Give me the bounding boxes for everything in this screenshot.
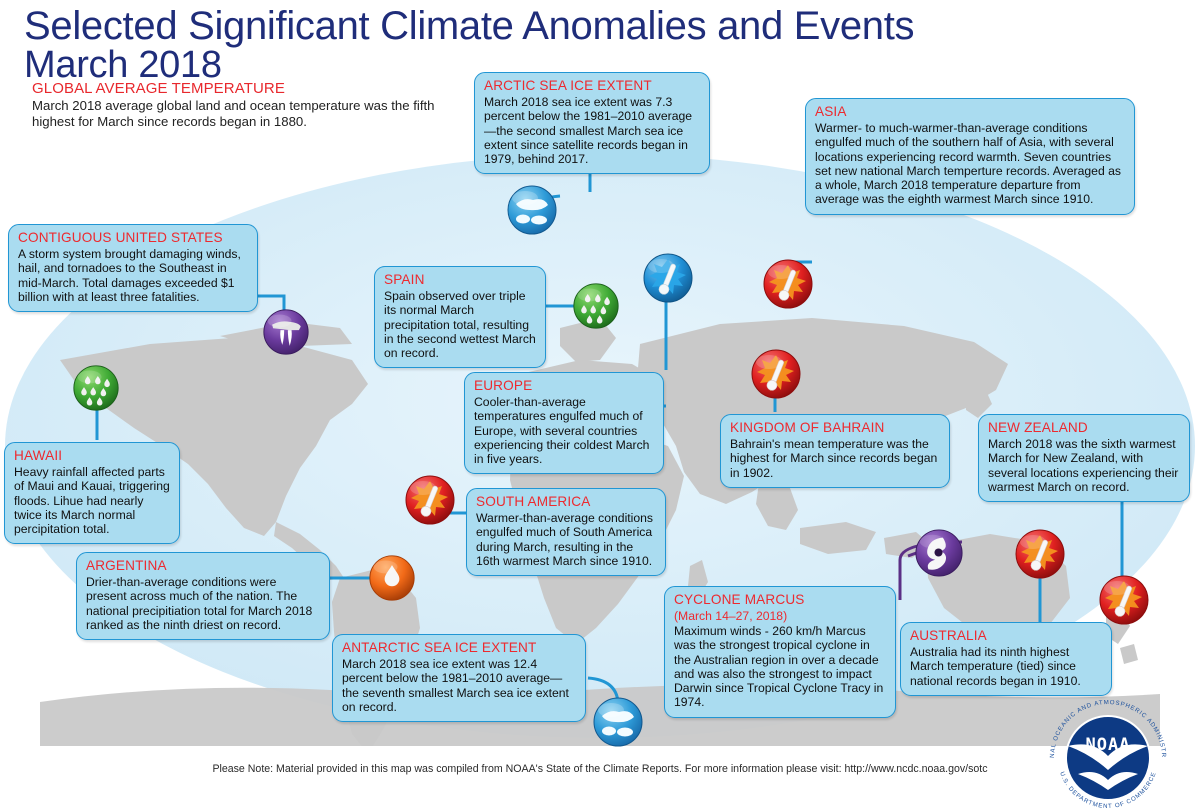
- footer-note: Please Note: Material provided in this m…: [0, 763, 1200, 775]
- callout-body: Bahrain's mean temperature was the highe…: [730, 437, 940, 480]
- callout-title: CYCLONE MARCUS: [674, 592, 886, 608]
- callout-body: March 2018 sea ice extent was 7.3 percen…: [484, 95, 700, 166]
- callout-body: Warmer- to much-warmer-than-average cond…: [815, 121, 1125, 207]
- callout-title: HAWAII: [14, 448, 170, 464]
- callout-body: A storm system brought damaging winds, h…: [18, 247, 248, 304]
- callout-body: Cooler-than-average temperatures engulfe…: [474, 395, 654, 466]
- callout-title: AUSTRALIA: [910, 628, 1102, 644]
- infographic-canvas: Selected Significant Climate Anomalies a…: [0, 0, 1200, 812]
- callout-body: March 2018 sea ice extent was 12.4 perce…: [342, 657, 576, 714]
- callout-body: Heavy rainfall affected parts of Maui an…: [14, 465, 170, 536]
- callout-title: SPAIN: [384, 272, 536, 288]
- callout-hawaii[interactable]: HAWAII Heavy rainfall affected parts of …: [4, 442, 180, 544]
- callout-body: Australia had its ninth highest March te…: [910, 645, 1102, 688]
- marker-new-zealand-warm-icon[interactable]: [1098, 574, 1150, 626]
- callout-antarctic-sea-ice-extent[interactable]: ANTARCTIC SEA ICE EXTENT March 2018 sea …: [332, 634, 586, 722]
- marker-spain-precip-icon[interactable]: [572, 282, 620, 330]
- marker-europe-cold-icon[interactable]: [642, 252, 694, 304]
- callout-australia[interactable]: AUSTRALIA Australia had its ninth highes…: [900, 622, 1112, 696]
- callout-body: Maximum winds - 260 km/h Marcus was the …: [674, 624, 886, 710]
- marker-arctic-ice-icon[interactable]: [506, 184, 558, 236]
- callout-kingdom-of-bahrain[interactable]: KINGDOM OF BAHRAIN Bahrain's mean temper…: [720, 414, 950, 488]
- callout-new-zealand[interactable]: NEW ZEALAND March 2018 was the sixth war…: [978, 414, 1190, 502]
- marker-asia-warm-icon[interactable]: [762, 258, 814, 310]
- callout-europe[interactable]: EUROPE Cooler-than-average temperatures …: [464, 372, 664, 474]
- marker-argentina-dry-icon[interactable]: [368, 554, 416, 602]
- callout-south-america[interactable]: SOUTH AMERICA Warmer-than-average condit…: [466, 488, 666, 576]
- noaa-logo: NOAA NATIONAL OCEANIC AND ATMOSPHERIC AD…: [1038, 700, 1178, 812]
- callout-body: Spain observed over triple its normal Ma…: [384, 289, 536, 360]
- callout-title: ASIA: [815, 104, 1125, 120]
- callout-title: NEW ZEALAND: [988, 420, 1180, 436]
- callout-arctic-sea-ice-extent[interactable]: ARCTIC SEA ICE EXTENT March 2018 sea ice…: [474, 72, 710, 174]
- global-average-temperature-heading: GLOBAL AVERAGE TEMPERATURE: [32, 80, 285, 97]
- callout-cyclone-marcus[interactable]: CYCLONE MARCUS (March 14–27, 2018) Maxim…: [664, 586, 896, 718]
- marker-australia-warm-icon[interactable]: [1014, 528, 1066, 580]
- callout-title: SOUTH AMERICA: [476, 494, 656, 510]
- callout-title: ARGENTINA: [86, 558, 320, 574]
- callout-title: KINGDOM OF BAHRAIN: [730, 420, 940, 436]
- callout-body: March 2018 was the sixth warmest March f…: [988, 437, 1180, 494]
- callout-title: EUROPE: [474, 378, 654, 394]
- marker-south-america-warm-icon[interactable]: [404, 474, 456, 526]
- global-average-temperature-body: March 2018 average global land and ocean…: [32, 98, 452, 130]
- marker-hawaii-precip-icon[interactable]: [72, 364, 120, 412]
- callout-body: Drier-than-average conditions were prese…: [86, 575, 320, 632]
- callout-title: ARCTIC SEA ICE EXTENT: [484, 78, 700, 94]
- marker-us-tornado-icon[interactable]: [262, 308, 310, 356]
- callout-subtitle: (March 14–27, 2018): [674, 609, 886, 623]
- noaa-logo-text: NOAA: [1086, 735, 1131, 755]
- callout-asia[interactable]: ASIA Warmer- to much-warmer-than-average…: [805, 98, 1135, 215]
- marker-antarctic-ice-icon[interactable]: [592, 696, 644, 748]
- callout-contiguous-united-states[interactable]: CONTIGUOUS UNITED STATES A storm system …: [8, 224, 258, 312]
- callout-title: CONTIGUOUS UNITED STATES: [18, 230, 248, 246]
- callout-argentina[interactable]: ARGENTINA Drier-than-average conditions …: [76, 552, 330, 640]
- callout-title: ANTARCTIC SEA ICE EXTENT: [342, 640, 576, 656]
- callout-body: Warmer-than-average conditions engulfed …: [476, 511, 656, 568]
- marker-bahrain-warm-icon[interactable]: [750, 348, 802, 400]
- marker-cyclone-marcus-icon[interactable]: [914, 528, 964, 578]
- callout-spain[interactable]: SPAIN Spain observed over triple its nor…: [374, 266, 546, 368]
- page-title: Selected Significant Climate Anomalies a…: [24, 4, 914, 48]
